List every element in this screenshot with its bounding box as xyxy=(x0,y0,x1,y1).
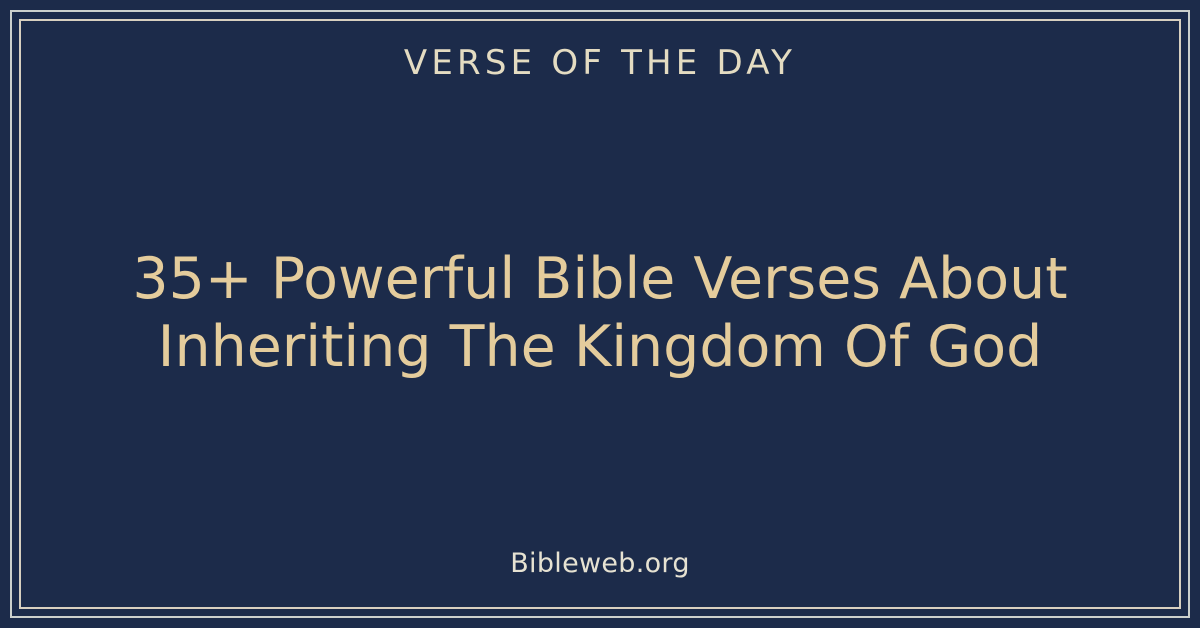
card-content: VERSE OF THE DAY 35+ Powerful Bible Vers… xyxy=(21,21,1179,607)
title-container: 35+ Powerful Bible Verses About Inheriti… xyxy=(21,76,1179,550)
verse-of-the-day-card: VERSE OF THE DAY 35+ Powerful Bible Vers… xyxy=(0,0,1200,628)
page-title: 35+ Powerful Bible Verses About Inheriti… xyxy=(65,245,1135,381)
site-attribution: Bibleweb.org xyxy=(510,549,690,579)
